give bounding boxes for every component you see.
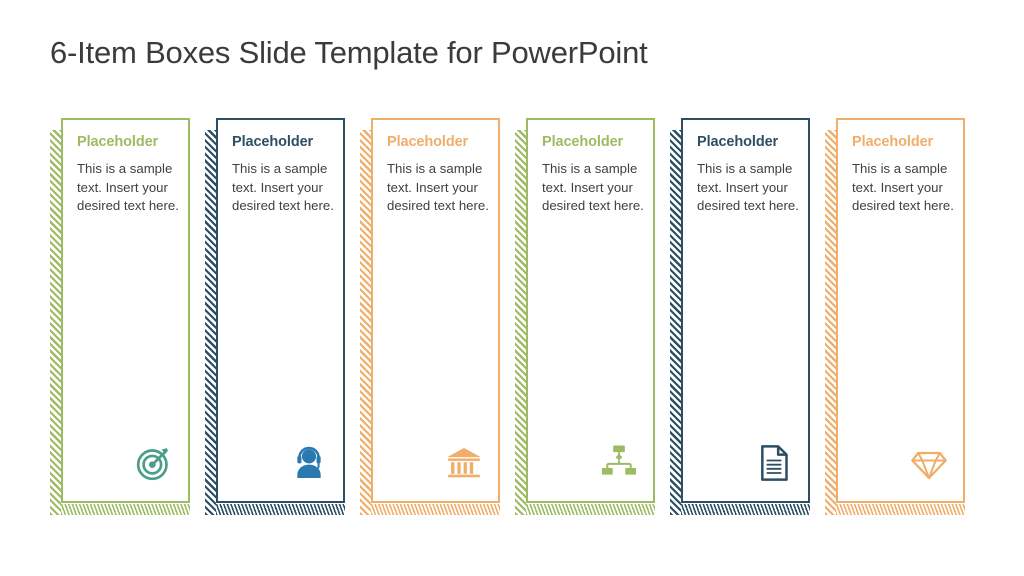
card-shadow-hatch-bottom [526, 504, 655, 515]
card-title: Placeholder [542, 134, 623, 150]
card-row: PlaceholderThis is a sample text. Insert… [0, 0, 1024, 576]
card-shadow-hatch-bottom [681, 504, 810, 515]
org-chart-icon [599, 443, 639, 483]
card-body-text: This is a sample text. Insert your desir… [232, 160, 335, 216]
card-body-text: This is a sample text. Insert your desir… [542, 160, 645, 216]
card-title: Placeholder [232, 134, 313, 150]
card-shadow-hatch-left [50, 130, 61, 515]
card-3[interactable]: PlaceholderThis is a sample text. Insert… [360, 118, 500, 503]
card-shadow-hatch-bottom [61, 504, 190, 515]
card-box[interactable]: PlaceholderThis is a sample text. Insert… [371, 118, 500, 503]
card-1[interactable]: PlaceholderThis is a sample text. Insert… [50, 118, 190, 503]
card-title: Placeholder [852, 134, 933, 150]
slide-canvas: 6-Item Boxes Slide Template for PowerPoi… [0, 0, 1024, 576]
card-box[interactable]: PlaceholderThis is a sample text. Insert… [216, 118, 345, 503]
card-title: Placeholder [697, 134, 778, 150]
target-icon [134, 443, 174, 483]
card-shadow-hatch-left [825, 130, 836, 515]
card-box[interactable]: PlaceholderThis is a sample text. Insert… [526, 118, 655, 503]
card-box[interactable]: PlaceholderThis is a sample text. Insert… [681, 118, 810, 503]
document-icon [754, 443, 794, 483]
card-5[interactable]: PlaceholderThis is a sample text. Insert… [670, 118, 810, 503]
card-body-text: This is a sample text. Insert your desir… [387, 160, 490, 216]
card-box[interactable]: PlaceholderThis is a sample text. Insert… [836, 118, 965, 503]
card-6[interactable]: PlaceholderThis is a sample text. Insert… [825, 118, 965, 503]
card-4[interactable]: PlaceholderThis is a sample text. Insert… [515, 118, 655, 503]
card-shadow-hatch-bottom [371, 504, 500, 515]
card-shadow-hatch-left [360, 130, 371, 515]
card-title: Placeholder [387, 134, 468, 150]
card-title: Placeholder [77, 134, 158, 150]
card-shadow-hatch-bottom [836, 504, 965, 515]
support-agent-icon [289, 443, 329, 483]
card-body-text: This is a sample text. Insert your desir… [697, 160, 800, 216]
card-shadow-hatch-bottom [216, 504, 345, 515]
card-shadow-hatch-left [670, 130, 681, 515]
card-body-text: This is a sample text. Insert your desir… [852, 160, 955, 216]
card-shadow-hatch-left [515, 130, 526, 515]
diamond-icon [909, 443, 949, 483]
card-2[interactable]: PlaceholderThis is a sample text. Insert… [205, 118, 345, 503]
card-body-text: This is a sample text. Insert your desir… [77, 160, 180, 216]
card-box[interactable]: PlaceholderThis is a sample text. Insert… [61, 118, 190, 503]
card-shadow-hatch-left [205, 130, 216, 515]
bank-building-icon [444, 443, 484, 483]
